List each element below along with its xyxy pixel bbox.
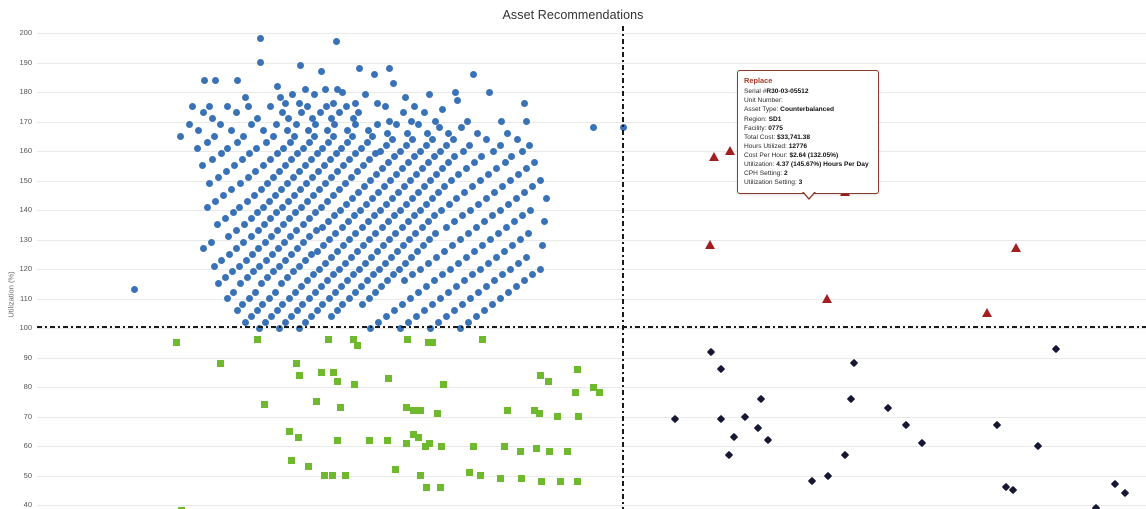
data-point-keep[interactable] [211, 133, 218, 140]
data-point-keep[interactable] [281, 239, 288, 246]
data-point-keep[interactable] [292, 289, 299, 296]
data-point-keep[interactable] [236, 204, 243, 211]
data-point-review[interactable] [754, 424, 762, 432]
data-point-keep[interactable] [304, 277, 311, 284]
data-point-keep[interactable] [537, 177, 544, 184]
data-point-keep[interactable] [322, 260, 329, 267]
data-point-keep[interactable] [403, 142, 410, 149]
data-point-keep[interactable] [280, 145, 287, 152]
data-point-keep[interactable] [334, 307, 341, 314]
data-point-keep[interactable] [420, 242, 427, 249]
data-point-keep[interactable] [326, 295, 333, 302]
data-point-keep[interactable] [417, 207, 424, 214]
data-point-keep[interactable] [244, 198, 251, 205]
data-point-keep[interactable] [489, 301, 496, 308]
data-point-review[interactable] [1009, 486, 1017, 494]
data-point-keep[interactable] [280, 221, 287, 228]
data-point-keep[interactable] [334, 248, 341, 255]
data-point-keep[interactable] [332, 289, 339, 296]
data-point-retain[interactable] [318, 369, 325, 376]
data-point-retain[interactable] [173, 339, 180, 346]
data-point-keep[interactable] [212, 198, 219, 205]
data-point-keep[interactable] [425, 159, 432, 166]
data-point-keep[interactable] [268, 233, 275, 240]
data-point-keep[interactable] [298, 283, 305, 290]
data-point-keep[interactable] [308, 251, 315, 258]
data-point-keep[interactable] [487, 236, 494, 243]
data-point-keep[interactable] [344, 277, 351, 284]
data-point-keep[interactable] [250, 268, 257, 275]
data-point-keep[interactable] [230, 289, 237, 296]
data-point-keep[interactable] [478, 153, 485, 160]
data-point-keep[interactable] [371, 212, 378, 219]
data-point-keep[interactable] [297, 186, 304, 193]
data-point-keep[interactable] [177, 133, 184, 140]
data-point-keep[interactable] [292, 209, 299, 216]
data-point-keep[interactable] [206, 180, 213, 187]
data-point-keep[interactable] [252, 289, 259, 296]
data-point-keep[interactable] [502, 159, 509, 166]
data-point-retain[interactable] [497, 475, 504, 482]
data-point-keep[interactable] [274, 227, 281, 234]
data-point-retain[interactable] [440, 381, 447, 388]
data-point-keep[interactable] [403, 201, 410, 208]
data-point-keep[interactable] [248, 215, 255, 222]
data-point-keep[interactable] [293, 121, 300, 128]
data-point-keep[interactable] [272, 192, 279, 199]
data-point-keep[interactable] [495, 230, 502, 237]
data-point-keep[interactable] [331, 212, 338, 219]
data-point-retain[interactable] [321, 472, 328, 479]
data-point-retain[interactable] [296, 372, 303, 379]
data-point-keep[interactable] [470, 71, 477, 78]
data-point-keep[interactable] [457, 236, 464, 243]
data-point-keep[interactable] [275, 245, 282, 252]
data-point-keep[interactable] [393, 171, 400, 178]
data-point-keep[interactable] [379, 165, 386, 172]
data-point-retain[interactable] [392, 466, 399, 473]
data-point-keep[interactable] [342, 180, 349, 187]
data-point-keep[interactable] [328, 174, 335, 181]
data-point-keep[interactable] [493, 165, 500, 172]
data-point-keep[interactable] [215, 280, 222, 287]
data-point-keep[interactable] [519, 148, 526, 155]
data-point-review[interactable] [1052, 344, 1060, 352]
data-point-keep[interactable] [411, 212, 418, 219]
data-point-keep[interactable] [381, 183, 388, 190]
data-point-keep[interactable] [209, 156, 216, 163]
data-point-keep[interactable] [346, 156, 353, 163]
data-point-keep[interactable] [477, 177, 484, 184]
data-point-keep[interactable] [254, 115, 261, 122]
data-point-keep[interactable] [477, 266, 484, 273]
data-point-retain[interactable] [293, 360, 300, 367]
data-point-keep[interactable] [336, 109, 343, 116]
data-point-keep[interactable] [419, 224, 426, 231]
data-point-keep[interactable] [359, 301, 366, 308]
data-point-keep[interactable] [431, 277, 438, 284]
data-point-keep[interactable] [519, 212, 526, 219]
data-point-keep[interactable] [415, 189, 422, 196]
data-point-keep[interactable] [282, 162, 289, 169]
data-point-keep[interactable] [254, 307, 261, 314]
data-point-replace[interactable] [725, 146, 735, 155]
data-point-keep[interactable] [300, 239, 307, 246]
data-point-retain[interactable] [342, 472, 349, 479]
data-point-keep[interactable] [248, 313, 255, 320]
data-point-keep[interactable] [469, 183, 476, 190]
data-point-keep[interactable] [354, 248, 361, 255]
data-point-keep[interactable] [409, 195, 416, 202]
data-point-keep[interactable] [260, 204, 267, 211]
data-point-keep[interactable] [234, 139, 241, 146]
data-point-keep[interactable] [458, 124, 465, 131]
data-point-keep[interactable] [367, 177, 374, 184]
data-point-keep[interactable] [375, 319, 382, 326]
data-point-keep[interactable] [370, 271, 377, 278]
data-point-retain[interactable] [334, 437, 341, 444]
data-point-keep[interactable] [515, 260, 522, 267]
data-point-keep[interactable] [415, 289, 422, 296]
data-point-keep[interactable] [385, 218, 392, 225]
data-point-keep[interactable] [525, 230, 532, 237]
data-point-keep[interactable] [340, 242, 347, 249]
data-point-retain[interactable] [403, 404, 410, 411]
data-point-retain[interactable] [325, 336, 332, 343]
data-point-keep[interactable] [455, 260, 462, 267]
data-point-keep[interactable] [405, 218, 412, 225]
data-point-keep[interactable] [443, 142, 450, 149]
data-point-keep[interactable] [523, 254, 530, 261]
data-point-keep[interactable] [385, 159, 392, 166]
data-point-keep[interactable] [340, 162, 347, 169]
data-point-keep[interactable] [303, 180, 310, 187]
data-point-keep[interactable] [507, 177, 514, 184]
data-point-keep[interactable] [361, 183, 368, 190]
data-point-retain[interactable] [410, 407, 417, 414]
data-point-keep[interactable] [473, 313, 480, 320]
data-point-keep[interactable] [200, 109, 207, 116]
data-point-keep[interactable] [399, 165, 406, 172]
data-point-keep[interactable] [372, 150, 379, 157]
data-point-keep[interactable] [352, 150, 359, 157]
data-point-keep[interactable] [302, 86, 309, 93]
data-point-keep[interactable] [452, 89, 459, 96]
data-point-keep[interactable] [497, 207, 504, 214]
data-point-keep[interactable] [461, 277, 468, 284]
data-point-keep[interactable] [332, 230, 339, 237]
data-point-keep[interactable] [316, 266, 323, 273]
data-point-keep[interactable] [304, 198, 311, 205]
data-point-keep[interactable] [391, 212, 398, 219]
data-point-keep[interactable] [378, 283, 385, 290]
data-point-keep[interactable] [460, 148, 467, 155]
data-point-keep[interactable] [346, 295, 353, 302]
data-point-retain[interactable] [415, 434, 422, 441]
data-point-keep[interactable] [225, 233, 232, 240]
data-point-keep[interactable] [503, 224, 510, 231]
data-point-retain[interactable] [434, 410, 441, 417]
data-point-keep[interactable] [200, 245, 207, 252]
data-point-keep[interactable] [513, 195, 520, 202]
data-point-keep[interactable] [359, 224, 366, 231]
data-point-keep[interactable] [389, 195, 396, 202]
data-point-keep[interactable] [199, 162, 206, 169]
data-point-keep[interactable] [402, 94, 409, 101]
data-point-keep[interactable] [467, 207, 474, 214]
data-point-keep[interactable] [374, 100, 381, 107]
data-point-keep[interactable] [263, 257, 270, 264]
data-point-retain[interactable] [554, 413, 561, 420]
data-point-keep[interactable] [441, 183, 448, 190]
data-point-keep[interactable] [240, 239, 247, 246]
data-point-keep[interactable] [287, 139, 294, 146]
data-point-keep[interactable] [469, 271, 476, 278]
data-point-keep[interactable] [541, 218, 548, 225]
data-point-keep[interactable] [315, 168, 322, 175]
data-point-keep[interactable] [274, 150, 281, 157]
data-point-review[interactable] [717, 365, 725, 373]
data-point-keep[interactable] [394, 248, 401, 255]
data-point-keep[interactable] [343, 201, 350, 208]
data-point-keep[interactable] [391, 153, 398, 160]
data-point-keep[interactable] [255, 245, 262, 252]
data-point-keep[interactable] [389, 136, 396, 143]
data-point-keep[interactable] [245, 103, 252, 110]
data-point-keep[interactable] [264, 180, 271, 187]
data-point-keep[interactable] [237, 180, 244, 187]
data-point-keep[interactable] [284, 274, 291, 281]
data-point-keep[interactable] [258, 280, 265, 287]
data-point-keep[interactable] [224, 145, 231, 152]
data-point-keep[interactable] [415, 121, 422, 128]
data-point-keep[interactable] [296, 100, 303, 107]
data-point-keep[interactable] [489, 212, 496, 219]
data-point-keep[interactable] [529, 183, 536, 190]
data-point-keep[interactable] [360, 242, 367, 249]
data-point-keep[interactable] [209, 115, 216, 122]
data-point-keep[interactable] [328, 254, 335, 261]
data-point-keep[interactable] [399, 301, 406, 308]
data-point-keep[interactable] [356, 65, 363, 72]
data-point-retain[interactable] [545, 378, 552, 385]
data-point-keep[interactable] [355, 189, 362, 196]
data-point-keep[interactable] [509, 242, 516, 249]
data-point-keep[interactable] [208, 239, 215, 246]
data-point-keep[interactable] [483, 283, 490, 290]
data-point-keep[interactable] [427, 177, 434, 184]
data-point-retain[interactable] [286, 428, 293, 435]
data-point-keep[interactable] [233, 245, 240, 252]
data-point-keep[interactable] [218, 257, 225, 264]
data-point-keep[interactable] [377, 207, 384, 214]
data-point-keep[interactable] [475, 289, 482, 296]
data-point-keep[interactable] [258, 186, 265, 193]
data-point-keep[interactable] [365, 218, 372, 225]
data-point-keep[interactable] [331, 121, 338, 128]
data-point-keep[interactable] [189, 103, 196, 110]
data-point-keep[interactable] [300, 145, 307, 152]
data-point-keep[interactable] [391, 307, 398, 314]
data-point-keep[interactable] [333, 150, 340, 157]
data-point-keep[interactable] [505, 201, 512, 208]
data-point-keep[interactable] [312, 121, 319, 128]
data-point-review[interactable] [884, 403, 892, 411]
data-point-keep[interactable] [267, 103, 274, 110]
data-point-retain[interactable] [330, 369, 337, 376]
data-point-keep[interactable] [296, 263, 303, 270]
data-point-review[interactable] [1034, 442, 1042, 450]
data-point-keep[interactable] [474, 130, 481, 137]
data-point-keep[interactable] [285, 115, 292, 122]
data-point-keep[interactable] [267, 156, 274, 163]
data-point-keep[interactable] [417, 266, 424, 273]
data-point-keep[interactable] [400, 109, 407, 116]
data-point-keep[interactable] [437, 295, 444, 302]
data-point-keep[interactable] [411, 103, 418, 110]
data-point-keep[interactable] [431, 153, 438, 160]
data-point-keep[interactable] [514, 136, 521, 143]
data-point-keep[interactable] [448, 177, 455, 184]
data-point-keep[interactable] [262, 319, 269, 326]
data-point-keep[interactable] [497, 142, 504, 149]
data-point-keep[interactable] [505, 289, 512, 296]
data-point-retain[interactable] [351, 381, 358, 388]
data-point-keep[interactable] [414, 248, 421, 255]
data-point-keep[interactable] [228, 186, 235, 193]
data-point-keep[interactable] [348, 174, 355, 181]
data-point-keep[interactable] [326, 236, 333, 243]
data-point-keep[interactable] [222, 215, 229, 222]
data-point-keep[interactable] [380, 242, 387, 249]
data-point-keep[interactable] [273, 209, 280, 216]
data-point-keep[interactable] [451, 153, 458, 160]
data-point-keep[interactable] [310, 192, 317, 199]
data-point-review[interactable] [741, 412, 749, 420]
data-point-keep[interactable] [325, 139, 332, 146]
data-point-keep[interactable] [433, 171, 440, 178]
data-point-keep[interactable] [368, 254, 375, 261]
data-point-keep[interactable] [318, 68, 325, 75]
data-point-keep[interactable] [350, 271, 357, 278]
data-point-keep[interactable] [337, 207, 344, 214]
data-point-keep[interactable] [419, 165, 426, 172]
data-point-keep[interactable] [324, 127, 331, 134]
data-point-keep[interactable] [439, 106, 446, 113]
data-point-retain[interactable] [575, 413, 582, 420]
data-point-review[interactable] [808, 477, 816, 485]
data-point-keep[interactable] [257, 59, 264, 66]
data-point-keep[interactable] [450, 136, 457, 143]
data-point-keep[interactable] [383, 201, 390, 208]
data-point-keep[interactable] [278, 186, 285, 193]
data-point-keep[interactable] [318, 204, 325, 211]
data-point-keep[interactable] [282, 100, 289, 107]
data-point-keep[interactable] [374, 121, 381, 128]
data-point-keep[interactable] [288, 313, 295, 320]
data-point-keep[interactable] [233, 109, 240, 116]
data-point-keep[interactable] [425, 218, 432, 225]
data-point-keep[interactable] [399, 224, 406, 231]
data-point-keep[interactable] [461, 189, 468, 196]
data-point-keep[interactable] [401, 277, 408, 284]
data-point-keep[interactable] [217, 121, 224, 128]
data-point-keep[interactable] [407, 177, 414, 184]
data-point-keep[interactable] [388, 254, 395, 261]
data-point-keep[interactable] [266, 295, 273, 302]
data-point-keep[interactable] [423, 201, 430, 208]
data-point-keep[interactable] [471, 248, 478, 255]
data-point-keep[interactable] [529, 271, 536, 278]
data-point-keep[interactable] [296, 168, 303, 175]
data-point-keep[interactable] [366, 156, 373, 163]
data-point-keep[interactable] [376, 266, 383, 273]
data-point-keep[interactable] [260, 162, 267, 169]
data-point-retain[interactable] [354, 342, 361, 349]
data-point-keep[interactable] [521, 100, 528, 107]
data-point-keep[interactable] [312, 289, 319, 296]
data-point-keep[interactable] [387, 177, 394, 184]
data-point-keep[interactable] [339, 224, 346, 231]
data-point-keep[interactable] [186, 121, 193, 128]
data-point-review[interactable] [717, 415, 725, 423]
data-point-keep[interactable] [432, 230, 439, 237]
data-point-keep[interactable] [397, 148, 404, 155]
data-point-keep[interactable] [223, 168, 230, 175]
data-point-keep[interactable] [230, 209, 237, 216]
data-point-keep[interactable] [270, 174, 277, 181]
data-point-keep[interactable] [257, 35, 264, 42]
data-point-keep[interactable] [481, 307, 488, 314]
data-point-retain[interactable] [329, 472, 336, 479]
data-point-keep[interactable] [426, 236, 433, 243]
data-point-keep[interactable] [390, 80, 397, 87]
data-point-keep[interactable] [304, 103, 311, 110]
data-point-retain[interactable] [295, 434, 302, 441]
data-point-keep[interactable] [483, 136, 490, 143]
data-point-keep[interactable] [357, 207, 364, 214]
data-point-keep[interactable] [344, 139, 351, 146]
data-point-keep[interactable] [499, 183, 506, 190]
data-point-keep[interactable] [244, 274, 251, 281]
data-point-retain[interactable] [417, 407, 424, 414]
data-point-keep[interactable] [543, 195, 550, 202]
data-point-keep[interactable] [439, 271, 446, 278]
data-point-keep[interactable] [475, 201, 482, 208]
data-point-keep[interactable] [409, 271, 416, 278]
data-point-retain[interactable] [536, 410, 543, 417]
data-point-retain[interactable] [546, 448, 553, 455]
data-point-keep[interactable] [306, 295, 313, 302]
data-point-keep[interactable] [441, 248, 448, 255]
data-point-keep[interactable] [267, 215, 274, 222]
plot-area[interactable] [37, 0, 1146, 509]
data-point-keep[interactable] [421, 183, 428, 190]
data-point-keep[interactable] [435, 189, 442, 196]
data-point-keep[interactable] [330, 192, 337, 199]
data-point-keep[interactable] [194, 145, 201, 152]
data-point-keep[interactable] [453, 195, 460, 202]
data-point-keep[interactable] [499, 271, 506, 278]
data-point-keep[interactable] [274, 83, 281, 90]
data-point-keep[interactable] [498, 118, 505, 125]
data-point-keep[interactable] [366, 236, 373, 243]
data-point-keep[interactable] [437, 148, 444, 155]
data-point-keep[interactable] [360, 162, 367, 169]
data-point-keep[interactable] [364, 139, 371, 146]
data-point-keep[interactable] [373, 171, 380, 178]
data-point-keep[interactable] [324, 277, 331, 284]
